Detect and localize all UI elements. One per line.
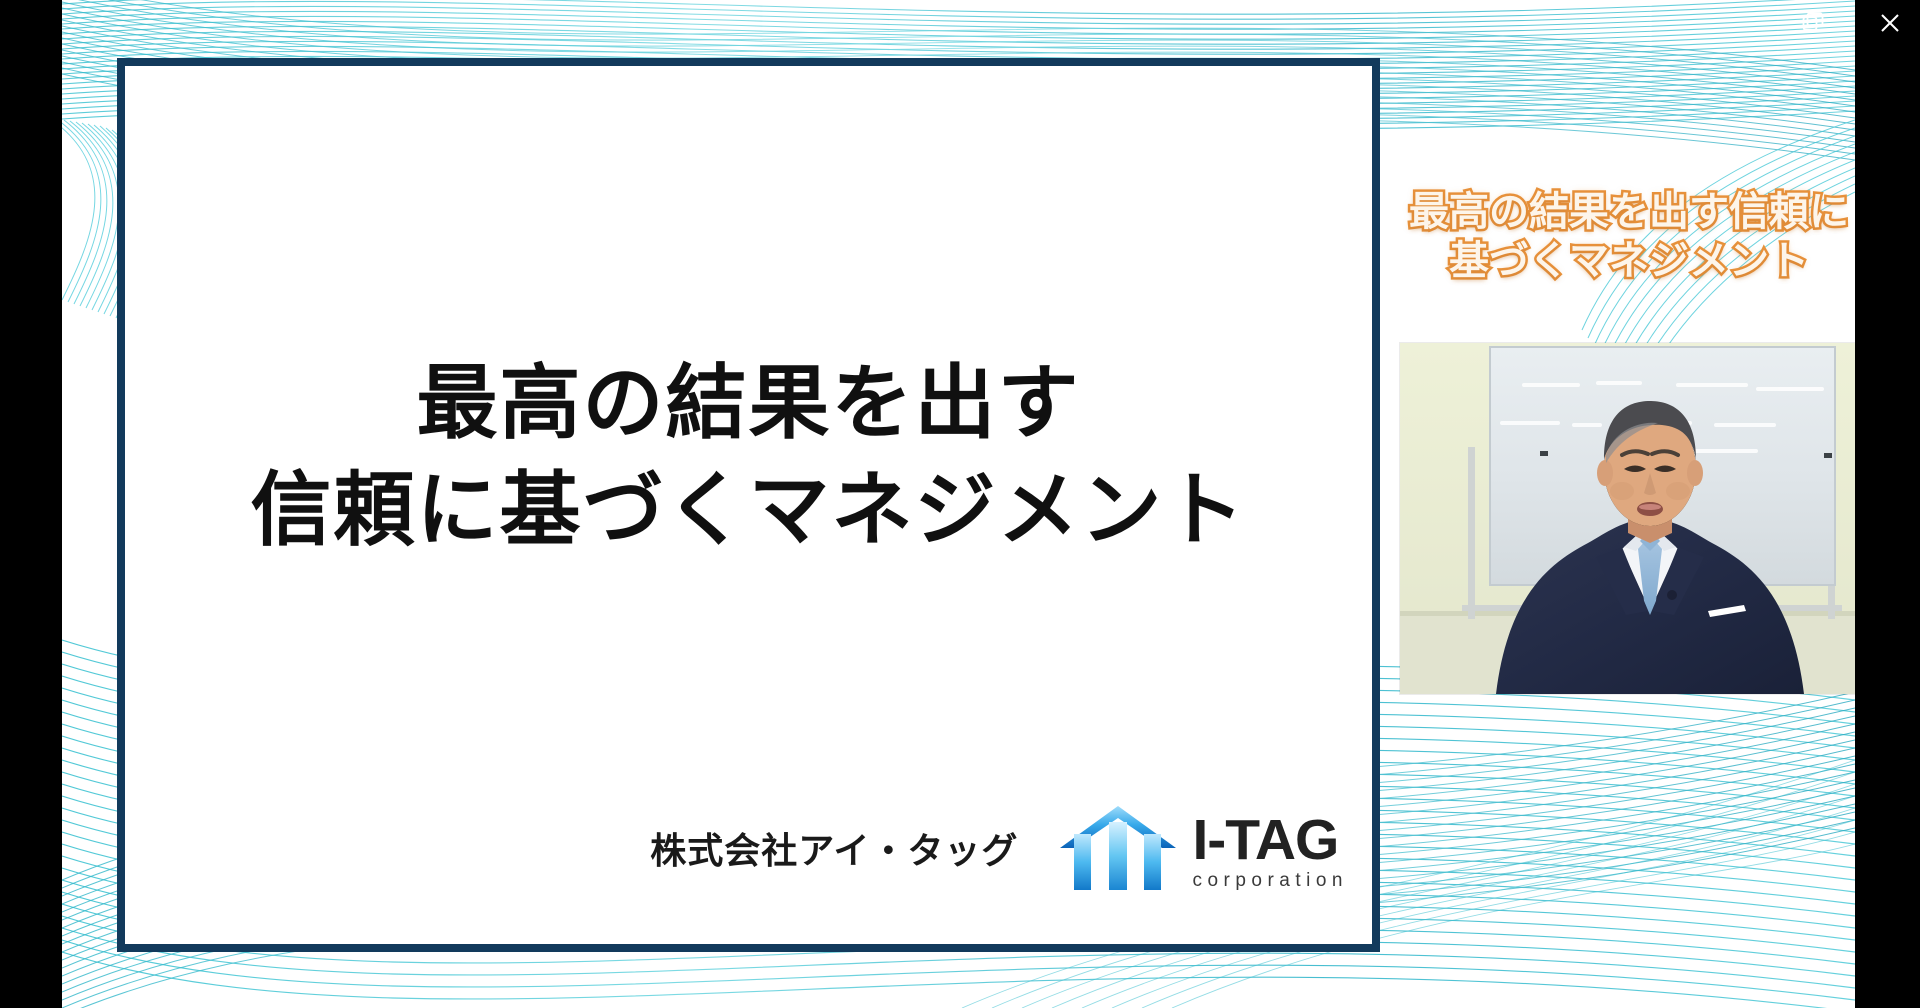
overlay-title-line-2: 基づくマネジメント <box>1394 237 1855 286</box>
logo-tagline: corporation <box>1192 870 1348 892</box>
letterbox-left <box>0 0 62 1008</box>
slide-title: 最高の結果を出す 信頼に基づくマネジメント <box>125 351 1372 565</box>
presenter-column: 最高の結果を出す信頼に 基づくマネジメント <box>1400 0 1855 1008</box>
itag-logo: I-TAG corporation <box>1058 804 1348 892</box>
overlay-title-line-1: 最高の結果を出す信頼に <box>1394 188 1855 237</box>
picture-in-picture-button[interactable] <box>1795 6 1831 38</box>
pip-icon <box>1802 12 1824 32</box>
close-icon <box>1879 12 1901 34</box>
logo-wordmark-block: I-TAG corporation <box>1192 814 1348 892</box>
presenter-video[interactable] <box>1400 343 1855 694</box>
company-name: 株式会社アイ・タッグ <box>650 822 1018 874</box>
video-overlay-title: 最高の結果を出す信頼に 基づくマネジメント <box>1394 188 1855 286</box>
player-stage: 最高の結果を出す 信頼に基づくマネジメント 株式会社アイ・タッグ <box>0 0 1920 1008</box>
close-button[interactable] <box>1868 2 1912 44</box>
slide-title-line-1: 最高の結果を出す <box>416 359 1080 449</box>
letterbox-right <box>1855 0 1920 1008</box>
building-arrow-logo-icon <box>1058 804 1178 892</box>
slide-title-line-2: 信頼に基づくマネジメント <box>125 458 1372 565</box>
logo-wordmark: I-TAG <box>1192 814 1338 866</box>
slide-footer: 株式会社アイ・タッグ <box>125 804 1348 892</box>
video-content-area: 最高の結果を出す 信頼に基づくマネジメント 株式会社アイ・タッグ <box>62 0 1855 1008</box>
slide-canvas: 最高の結果を出す 信頼に基づくマネジメント 株式会社アイ・タッグ <box>125 66 1372 944</box>
presentation-slide: 最高の結果を出す 信頼に基づくマネジメント 株式会社アイ・タッグ <box>117 58 1380 952</box>
